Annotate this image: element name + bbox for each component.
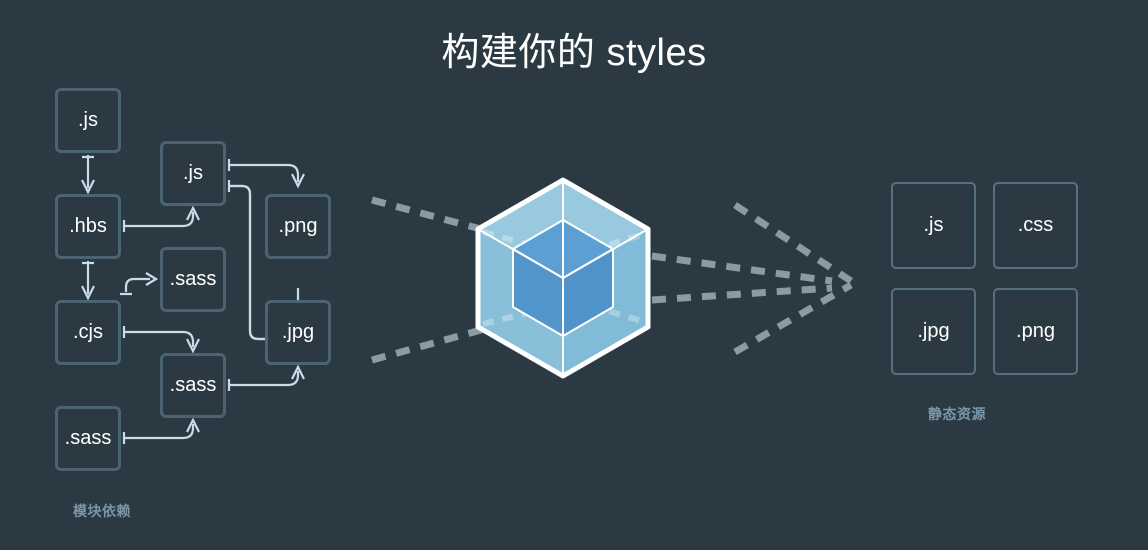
box-jpg-label: .jpg xyxy=(282,321,314,344)
box-sass-1-label: .sass xyxy=(170,268,217,291)
out-box-js-label: .js xyxy=(924,214,944,237)
dashed-arrowhead-upper-wing xyxy=(735,205,851,281)
box-js-1-label: .js xyxy=(78,109,98,132)
out-box-css[interactable]: .css xyxy=(993,182,1078,269)
dashed-arrow-in-top xyxy=(372,200,492,232)
conn-hbs-js2-arrowhead xyxy=(187,208,199,220)
out-box-jpg[interactable]: .jpg xyxy=(891,288,976,375)
module-dependencies-label: 模块依赖 xyxy=(73,501,131,521)
conn-js2-png xyxy=(229,165,298,182)
dashed-arrowhead-lower-wing xyxy=(735,285,851,352)
cube-outer-right-face xyxy=(563,229,648,376)
cube-inner-dash-right-lower xyxy=(571,300,645,322)
cube-inner-dash-right-upper xyxy=(571,234,645,256)
box-sass-3[interactable]: .sass xyxy=(55,406,121,471)
cube-inner-right-face xyxy=(563,249,613,336)
cube-inner-top-face xyxy=(513,220,613,278)
out-box-css-label: .css xyxy=(1018,214,1054,237)
box-sass-3-label: .sass xyxy=(65,427,112,450)
box-sass-2-label: .sass xyxy=(170,374,217,397)
out-box-png-label: .png xyxy=(1016,320,1055,343)
box-hbs[interactable]: .hbs xyxy=(55,194,121,259)
conn-sass3-sass2 xyxy=(124,424,193,438)
conn-cjs-sass1 xyxy=(126,279,150,292)
cube-inner-edges xyxy=(513,220,613,336)
dashed-arrow-out-top xyxy=(652,256,832,281)
cube-inner-dash-left-upper xyxy=(483,232,555,252)
box-js-1[interactable]: .js xyxy=(55,88,121,153)
cube-outer-top-face xyxy=(478,180,648,278)
conn-sass3-sass2-arrowhead xyxy=(187,420,199,432)
conn-cjs-sass2-arrowhead xyxy=(187,339,199,351)
cube-outer-left-face xyxy=(478,229,563,376)
box-png[interactable]: .png xyxy=(265,194,331,259)
box-jpg[interactable]: .jpg xyxy=(265,300,331,365)
box-cjs-label: .cjs xyxy=(73,321,103,344)
box-png-label: .png xyxy=(279,215,318,238)
box-sass-2[interactable]: .sass xyxy=(160,353,226,418)
page-title: 构建你的 styles xyxy=(0,30,1148,76)
out-box-js[interactable]: .js xyxy=(891,182,976,269)
cube-inner-dash-left-lower xyxy=(483,306,555,324)
conn-sass2-jpg xyxy=(229,371,298,385)
cube-inner-left-face xyxy=(513,249,563,336)
dashed-arrow-in-bottom xyxy=(372,327,492,360)
conn-cjs-sass1-arrowhead xyxy=(146,273,156,285)
box-js-2[interactable]: .js xyxy=(160,141,226,206)
conn-js1-hbs-arrowhead xyxy=(82,180,94,192)
conn-cjs-sass2 xyxy=(124,332,193,347)
diagram-canvas: 构建你的 styles xyxy=(0,0,1148,550)
box-sass-1[interactable]: .sass xyxy=(160,247,226,312)
out-box-png[interactable]: .png xyxy=(993,288,1078,375)
conn-hbs-js2 xyxy=(124,212,193,226)
conn-hbs-cjs-arrowhead xyxy=(82,286,94,298)
conn-js2-png-arrowhead xyxy=(292,174,304,186)
box-hbs-label: .hbs xyxy=(69,215,107,238)
box-cjs[interactable]: .cjs xyxy=(55,300,121,365)
box-js-2-label: .js xyxy=(183,162,203,185)
conn-sass2-jpg-arrowhead xyxy=(292,367,304,379)
out-box-jpg-label: .jpg xyxy=(917,320,949,343)
cube-outer-edges xyxy=(478,180,648,376)
dashed-arrow-out-bottom xyxy=(652,288,832,300)
static-assets-label: 静态资源 xyxy=(928,404,986,424)
cube-outer-inner-edges xyxy=(478,180,648,376)
